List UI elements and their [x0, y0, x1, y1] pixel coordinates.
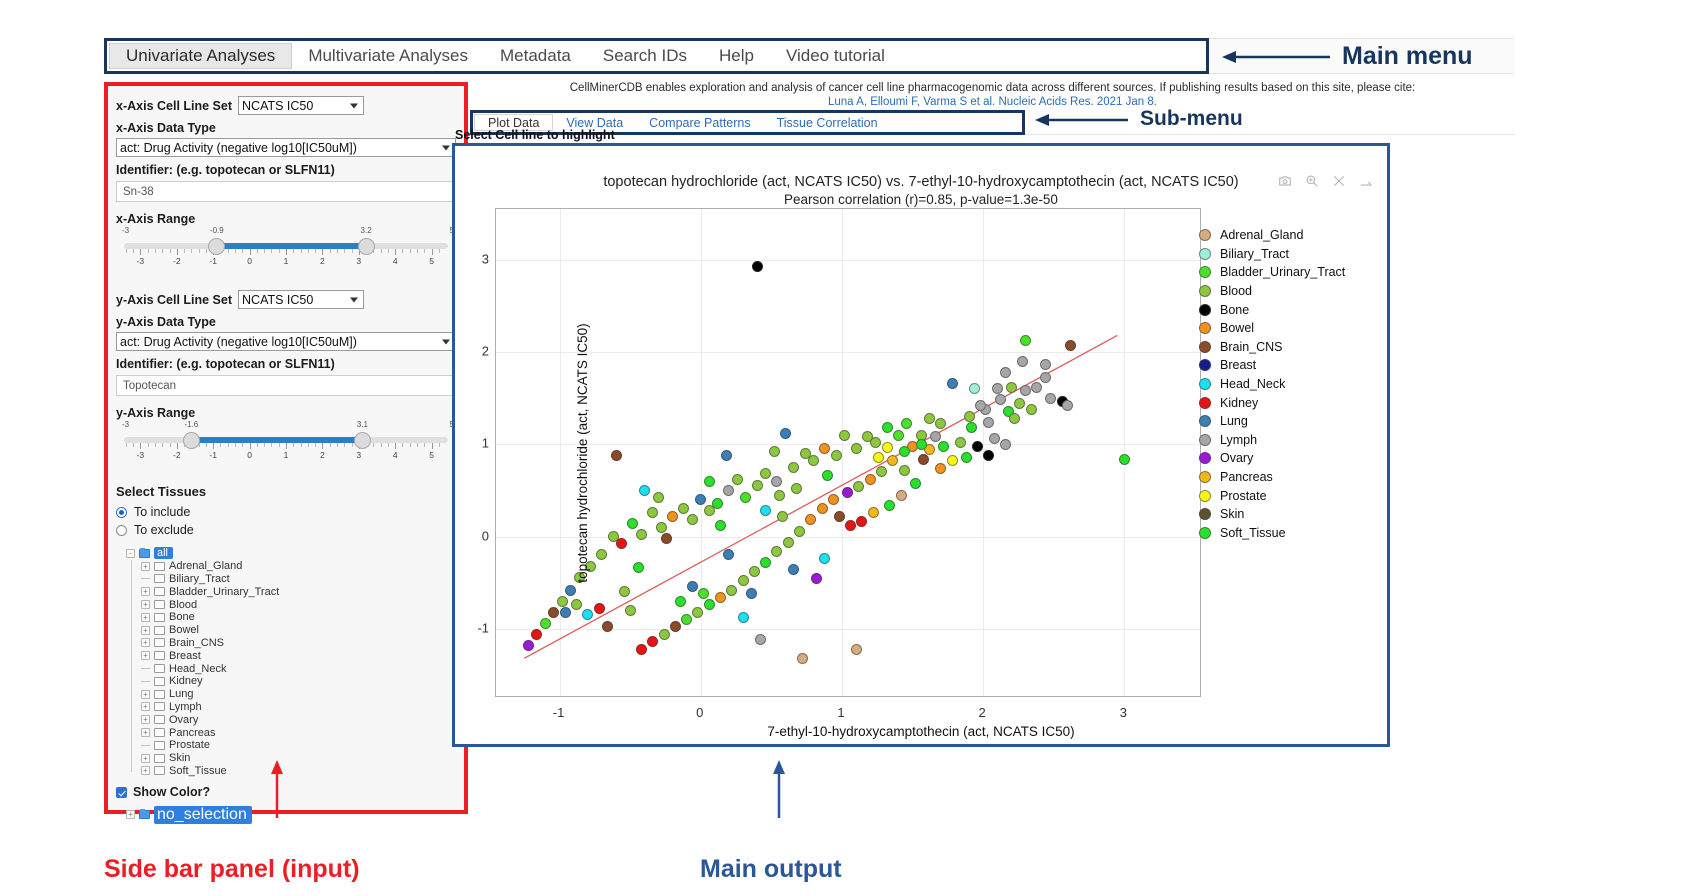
radio-exclude-icon: [116, 525, 127, 536]
show-color-checkbox-row[interactable]: Show Color?: [116, 785, 456, 799]
scatter-point[interactable]: [794, 526, 805, 537]
scatter-point[interactable]: [817, 503, 828, 514]
legend-label: Breast: [1220, 358, 1256, 372]
x-axis-cell-line-set-row: x-Axis Cell Line Set NCATS IC50: [116, 96, 456, 115]
no-selection-node[interactable]: + no_selection: [116, 808, 456, 821]
scatter-point[interactable]: [882, 422, 893, 433]
legend-item-biliary_tract[interactable]: Biliary_Tract: [1199, 245, 1375, 264]
scatter-point[interactable]: [656, 522, 667, 533]
scatter-point[interactable]: [851, 443, 862, 454]
scatter-point[interactable]: [752, 261, 763, 272]
scatter-point[interactable]: [865, 474, 876, 485]
slider-tick-label: 0: [247, 256, 252, 266]
x-axis-data-type-select[interactable]: act: Drug Activity (negative log10[IC50u…: [116, 138, 456, 157]
scatter-point[interactable]: [972, 441, 983, 452]
folder-icon: [154, 754, 165, 763]
plot-area: -10123 -10123: [495, 208, 1201, 697]
tree-node-bowel[interactable]: +Bowel: [116, 624, 456, 637]
tree-node-ovary[interactable]: +Ovary: [116, 713, 456, 726]
slider-knob-high[interactable]: [354, 432, 371, 449]
legend-item-bowel[interactable]: Bowel: [1199, 319, 1375, 338]
tab-help[interactable]: Help: [703, 41, 770, 71]
legend-item-kidney[interactable]: Kidney: [1199, 393, 1375, 412]
folder-icon: [154, 690, 165, 699]
legend-color-swatch: [1199, 341, 1211, 353]
scatter-point[interactable]: [1045, 393, 1056, 404]
scatter-point[interactable]: [797, 653, 808, 664]
scatter-point[interactable]: [851, 644, 862, 655]
collapse-icon[interactable]: -: [126, 549, 135, 558]
tree-node-label: Biliary_Tract: [169, 573, 230, 585]
legend-color-swatch: [1199, 248, 1211, 260]
y-axis-cell-line-set-select[interactable]: NCATS IC50: [238, 290, 364, 309]
legend-label: Lung: [1220, 414, 1248, 428]
legend-item-head_neck[interactable]: Head_Neck: [1199, 375, 1375, 394]
expand-icon[interactable]: +: [141, 587, 150, 596]
scatter-point[interactable]: [845, 520, 856, 531]
x-range-high-value: 3.2: [361, 226, 372, 235]
tab-metadata[interactable]: Metadata: [484, 41, 587, 71]
legend-label: Blood: [1220, 284, 1252, 298]
scatter-point[interactable]: [540, 618, 551, 629]
scatter-point[interactable]: [924, 413, 935, 424]
citation-link[interactable]: Luna A, Elloumi F, Varma S et al. Nuclei…: [470, 96, 1515, 108]
scatter-point[interactable]: [636, 644, 647, 655]
tree-node-bone[interactable]: +Bone: [116, 611, 456, 624]
scatter-point[interactable]: [873, 452, 884, 463]
scatter-point[interactable]: [687, 581, 698, 592]
legend-color-swatch: [1199, 508, 1211, 520]
slider-tick-label: -2: [173, 256, 181, 266]
expand-icon[interactable]: +: [141, 766, 150, 775]
legend-color-swatch: [1199, 415, 1211, 427]
legend-color-swatch: [1199, 266, 1211, 278]
tree-node-label: Breast: [169, 650, 201, 662]
tree-node-lung[interactable]: +Lung: [116, 688, 456, 701]
expand-icon[interactable]: +: [141, 728, 150, 737]
scatter-point[interactable]: [828, 494, 839, 505]
legend-item-soft_tissue[interactable]: Soft_Tissue: [1199, 524, 1375, 543]
scatter-point[interactable]: [738, 575, 749, 586]
slider-tick-labels: -3-2-1012345: [116, 256, 456, 268]
folder-icon: [154, 715, 165, 724]
annotation-arrow-sidebar: [270, 760, 284, 820]
slider-tick-label: -3: [137, 256, 145, 266]
expand-icon[interactable]: +: [141, 754, 150, 763]
legend-label: Brain_CNS: [1220, 340, 1283, 354]
y-range-min-end: -3: [122, 420, 129, 429]
scatter-point[interactable]: [565, 585, 576, 596]
x-tick-label: 0: [696, 705, 703, 720]
legend-item-lymph[interactable]: Lymph: [1199, 431, 1375, 450]
tab-video-tutorial[interactable]: Video tutorial: [770, 41, 901, 71]
x-axis-cell-line-set-value: NCATS IC50: [242, 99, 313, 113]
scatter-point[interactable]: [955, 437, 966, 448]
scatter-point[interactable]: [983, 417, 994, 428]
tree-node-label: Kidney: [169, 675, 203, 687]
tab-label: Metadata: [500, 46, 571, 66]
legend-label: Bladder_Urinary_Tract: [1220, 265, 1345, 279]
scatter-point[interactable]: [704, 505, 715, 516]
subtab-compare-patterns[interactable]: Compare Patterns: [636, 113, 763, 132]
tree-node-label: Prostate: [169, 739, 210, 751]
scatter-point[interactable]: [961, 452, 972, 463]
tree-node-label: Brain_CNS: [169, 637, 224, 649]
tree-node-breast[interactable]: +Breast: [116, 649, 456, 662]
legend-color-swatch: [1199, 434, 1211, 446]
y-axis-range-label: y-Axis Range: [116, 406, 456, 420]
tree-node-bladder_urinary_tract[interactable]: +Bladder_Urinary_Tract: [116, 585, 456, 598]
tree-node-label: Bowel: [169, 624, 199, 636]
legend-item-lung[interactable]: Lung: [1199, 412, 1375, 431]
scatter-point[interactable]: [975, 400, 986, 411]
x-tick-label: -1: [553, 705, 565, 720]
scatter-point[interactable]: [769, 446, 780, 457]
scatter-point[interactable]: [594, 603, 605, 614]
y-axis-cell-line-set-label: y-Axis Cell Line Set: [116, 293, 232, 307]
expand-icon[interactable]: +: [141, 600, 150, 609]
subtab-tissue-correlation[interactable]: Tissue Correlation: [764, 113, 891, 132]
tree-node-kidney[interactable]: Kidney: [116, 675, 456, 688]
folder-icon: [154, 677, 165, 686]
scatter-point[interactable]: [910, 478, 921, 489]
slider-tick-label: -2: [173, 450, 181, 460]
tab-univariate-analyses[interactable]: Univariate Analyses: [109, 43, 292, 69]
scatter-point[interactable]: [1000, 439, 1011, 450]
scatter-point[interactable]: [916, 439, 927, 450]
slider-tick-label: 5: [429, 450, 434, 460]
legend-label: Bone: [1220, 303, 1249, 317]
chevron-down-icon: [442, 339, 450, 344]
y-range-high-value: 3.1: [357, 420, 368, 429]
y-axis-data-type-value: act: Drug Activity (negative log10[IC50u…: [120, 335, 357, 349]
expand-icon[interactable]: +: [141, 626, 150, 635]
x-axis-range-label: x-Axis Range: [116, 212, 456, 226]
folder-icon: [154, 664, 165, 673]
legend-item-bladder_urinary_tract[interactable]: Bladder_Urinary_Tract: [1199, 263, 1375, 282]
plot-subtitle: Pearson correlation (r)=0.85, p-value=1.…: [455, 192, 1387, 207]
scatter-point[interactable]: [608, 531, 619, 542]
slider-ticks: [124, 249, 448, 255]
scatter-point[interactable]: [842, 487, 853, 498]
x-axis-identifier-value: Sn-38: [123, 186, 154, 198]
tab-label: Video tutorial: [786, 46, 885, 66]
tree-node-prostate[interactable]: Prostate: [116, 739, 456, 752]
scatter-point[interactable]: [560, 607, 571, 618]
select-tissues-label: Select Tissues: [116, 484, 456, 499]
tree-node-pancreas[interactable]: +Pancreas: [116, 726, 456, 739]
x-axis-identifier-label: Identifier: (e.g. topotecan or SLFN11): [116, 163, 456, 177]
tissue-mode-include[interactable]: To include: [116, 505, 456, 519]
expand-icon[interactable]: +: [141, 638, 150, 647]
slider-tick-label: 3: [356, 256, 361, 266]
folder-icon: [139, 810, 150, 819]
legend-item-blood[interactable]: Blood: [1199, 282, 1375, 301]
legend-label: Kidney: [1220, 396, 1258, 410]
scatter-point[interactable]: [557, 596, 568, 607]
scatter-point[interactable]: [783, 537, 794, 548]
scatter-point[interactable]: [1017, 356, 1028, 367]
y-tick-label: 2: [482, 344, 489, 359]
chevron-down-icon: [350, 297, 358, 302]
folder-icon: [154, 638, 165, 647]
tree-node-label: all: [154, 547, 173, 559]
expand-icon[interactable]: +: [141, 690, 150, 699]
scatter-point[interactable]: [780, 428, 791, 439]
slider-knob-low[interactable]: [183, 432, 200, 449]
folder-icon: [154, 562, 165, 571]
scatter-point[interactable]: [755, 634, 766, 645]
scatter-point[interactable]: [726, 585, 737, 596]
scatter-point[interactable]: [1026, 404, 1037, 415]
x-axis-data-type-value: act: Drug Activity (negative log10[IC50u…: [120, 141, 357, 155]
slider-ticks: [124, 443, 448, 449]
scatter-point[interactable]: [721, 450, 732, 461]
legend-color-swatch: [1199, 452, 1211, 464]
legend-color-swatch: [1199, 322, 1211, 334]
leaf-connector-icon: [141, 578, 150, 579]
slider-tick-label: 2: [320, 450, 325, 460]
legend-color-swatch: [1199, 490, 1211, 502]
scatter-point[interactable]: [639, 485, 650, 496]
tree-node-label: Bladder_Urinary_Tract: [169, 586, 279, 598]
legend-color-swatch: [1199, 304, 1211, 316]
legend-item-pancreas[interactable]: Pancreas: [1199, 468, 1375, 487]
scatter-point[interactable]: [834, 511, 845, 522]
tree-node-label: Lung: [169, 688, 193, 700]
citation-block: CellMinerCDB enables exploration and ana…: [470, 82, 1515, 108]
scatter-point[interactable]: [899, 465, 910, 476]
main-output-panel: topotecan hydrochloride (act, NCATS IC50…: [452, 143, 1390, 747]
plot-title: topotecan hydrochloride (act, NCATS IC50…: [455, 174, 1387, 190]
x-axis-cell-line-set-label: x-Axis Cell Line Set: [116, 99, 232, 113]
y-axis-identifier-value: Topotecan: [123, 380, 176, 392]
scatter-point[interactable]: [760, 557, 771, 568]
slider-tick-label: -1: [209, 450, 217, 460]
slider-tick-label: 4: [393, 256, 398, 266]
plot-title-block: topotecan hydrochloride (act, NCATS IC50…: [455, 174, 1387, 207]
annotation-sub-menu: Sub-menu: [1140, 107, 1243, 131]
scatter-point[interactable]: [930, 431, 941, 442]
y-axis-range-slider[interactable]: -3 5 -1.6 3.1 -3-2-1012345: [116, 420, 456, 466]
citation-line-1: CellMinerCDB enables exploration and ana…: [470, 82, 1515, 94]
x-tick-label: 2: [979, 705, 986, 720]
folder-icon: [154, 626, 165, 635]
scatter-point[interactable]: [625, 605, 636, 616]
folder-icon: [154, 741, 165, 750]
annotation-arrow-main-menu: [1222, 50, 1332, 64]
scatter-point[interactable]: [777, 511, 788, 522]
tab-label: Search IDs: [603, 46, 687, 66]
legend-label: Bowel: [1220, 321, 1254, 335]
annotation-arrow-sub-menu: [1035, 113, 1130, 127]
legend-item-ovary[interactable]: Ovary: [1199, 449, 1375, 468]
expand-icon[interactable]: +: [126, 810, 135, 819]
tree-node-label: Lymph: [169, 701, 202, 713]
tab-label: Univariate Analyses: [126, 46, 275, 66]
annotation-arrow-main-output: [772, 760, 786, 820]
scatter-point[interactable]: [947, 378, 958, 389]
sidebar-panel: x-Axis Cell Line Set NCATS IC50 x-Axis D…: [104, 82, 468, 814]
tree-node-label: Soft_Tissue: [169, 765, 227, 777]
scatter-point[interactable]: [704, 476, 715, 487]
checkbox-checked-icon[interactable]: [116, 787, 127, 798]
x-axis-cell-line-set-select[interactable]: NCATS IC50: [238, 96, 364, 115]
scatter-point[interactable]: [839, 430, 850, 441]
chevron-down-icon: [442, 145, 450, 150]
legend-color-swatch: [1199, 471, 1211, 483]
legend-item-breast[interactable]: Breast: [1199, 356, 1375, 375]
scatter-point[interactable]: [800, 448, 811, 459]
scatter-point[interactable]: [893, 430, 904, 441]
legend-item-prostate[interactable]: Prostate: [1199, 486, 1375, 505]
legend-label: Soft_Tissue: [1220, 526, 1286, 540]
tree-node-head_neck[interactable]: Head_Neck: [116, 662, 456, 675]
y-tick-label: 1: [482, 436, 489, 451]
y-axis-cell-line-set-value: NCATS IC50: [242, 293, 313, 307]
scatter-point[interactable]: [935, 463, 946, 474]
scatter-point[interactable]: [899, 446, 910, 457]
scatter-point[interactable]: [1000, 367, 1011, 378]
scatter-point[interactable]: [752, 480, 763, 491]
scatter-point[interactable]: [523, 640, 534, 651]
tree-node-skin[interactable]: +Skin: [116, 752, 456, 765]
tree-node-label: Skin: [169, 752, 190, 764]
legend-label: Adrenal_Gland: [1220, 228, 1303, 242]
folder-icon: [154, 600, 165, 609]
tab-label: Multivariate Analyses: [308, 46, 468, 66]
tree-node-lymph[interactable]: +Lymph: [116, 701, 456, 714]
legend-item-bone[interactable]: Bone: [1199, 300, 1375, 319]
scatter-point[interactable]: [582, 609, 593, 620]
subtab-label: Tissue Correlation: [777, 116, 878, 130]
expand-icon[interactable]: +: [141, 651, 150, 660]
expand-icon[interactable]: +: [141, 613, 150, 622]
no-selection-label: no_selection: [154, 806, 252, 824]
plot-axes[interactable]: [495, 208, 1201, 697]
scatter-point[interactable]: [868, 507, 879, 518]
slider-tick-label: -1: [209, 256, 217, 266]
y-axis-label: topotecan hydrochloride (act, NCATS IC50…: [575, 323, 590, 582]
scatter-point[interactable]: [611, 450, 622, 461]
y-axis-identifier-label: Identifier: (e.g. topotecan or SLFN11): [116, 357, 456, 371]
show-color-label: Show Color?: [133, 785, 210, 799]
scatter-point[interactable]: [1119, 454, 1130, 465]
folder-icon: [139, 549, 150, 558]
annotation-main-output: Main output: [700, 855, 842, 884]
scatter-point[interactable]: [659, 629, 670, 640]
tree-node-blood[interactable]: +Blood: [116, 598, 456, 611]
scatter-point[interactable]: [831, 450, 842, 461]
slider-tick-label: 1: [284, 256, 289, 266]
scatter-point[interactable]: [667, 511, 678, 522]
scatter-point[interactable]: [738, 612, 749, 623]
scatter-point[interactable]: [749, 566, 760, 577]
slider-tick-label: 1: [284, 450, 289, 460]
slider-tick-label: 0: [247, 450, 252, 460]
legend-color-swatch: [1199, 397, 1211, 409]
tree-node-soft_tissue[interactable]: +Soft_Tissue: [116, 765, 456, 778]
legend-color-swatch: [1199, 229, 1211, 241]
legend-label: Ovary: [1220, 451, 1253, 465]
tree-node-adrenal_gland[interactable]: +Adrenal_Gland: [116, 560, 456, 573]
legend-label: Prostate: [1220, 489, 1267, 503]
legend-color-swatch: [1199, 359, 1211, 371]
main-menu: Univariate Analyses Multivariate Analyse…: [104, 38, 1209, 74]
tree-node-label: Blood: [169, 599, 197, 611]
plot-legend: Adrenal_GlandBiliary_TractBladder_Urinar…: [1199, 226, 1375, 542]
tree-node-label: Pancreas: [169, 727, 215, 739]
y-axis-cell-line-set-row: y-Axis Cell Line Set NCATS IC50: [116, 290, 456, 309]
x-axis-data-type-label: x-Axis Data Type: [116, 121, 456, 135]
tab-label: Help: [719, 46, 754, 66]
scatter-point[interactable]: [964, 411, 975, 422]
folder-icon: [154, 702, 165, 711]
x-tick-label: 1: [837, 705, 844, 720]
slider-tick-labels: -3-2-1012345: [116, 450, 456, 462]
scatter-point[interactable]: [918, 454, 929, 465]
chevron-down-icon: [350, 103, 358, 108]
legend-color-swatch: [1199, 378, 1211, 390]
scatter-point[interactable]: [1006, 382, 1017, 393]
x-axis-range-slider[interactable]: -3 5 -0.9 3.2 -3-2-1012345: [116, 226, 456, 272]
scatter-point[interactable]: [1009, 413, 1020, 424]
legend-color-swatch: [1199, 285, 1211, 297]
radio-include-icon: [116, 507, 127, 518]
expand-icon[interactable]: +: [141, 562, 150, 571]
expand-icon[interactable]: +: [141, 702, 150, 711]
scatter-point[interactable]: [704, 599, 715, 610]
tree-node-brain_cns[interactable]: +Brain_CNS: [116, 637, 456, 650]
annotation-main-menu: Main menu: [1342, 42, 1473, 71]
scatter-point[interactable]: [715, 592, 726, 603]
slider-tick-label: -3: [137, 450, 145, 460]
scatter-point[interactable]: [947, 455, 958, 466]
tree-node-label: Bone: [169, 611, 195, 623]
x-axis-identifier-input[interactable]: Sn-38: [116, 181, 456, 202]
slider-knob-high[interactable]: [358, 238, 375, 255]
legend-label: Skin: [1220, 507, 1244, 521]
folder-icon: [154, 651, 165, 660]
legend-label: Pancreas: [1220, 470, 1273, 484]
scatter-point[interactable]: [715, 520, 726, 531]
slider-tick-label: 5: [429, 256, 434, 266]
y-axis-data-type-select[interactable]: act: Drug Activity (negative log10[IC50u…: [116, 332, 456, 351]
leaf-connector-icon: [141, 745, 150, 746]
tab-search-ids[interactable]: Search IDs: [587, 41, 703, 71]
scatter-point[interactable]: [732, 474, 743, 485]
tree-node-biliary_tract[interactable]: Biliary_Tract: [116, 573, 456, 586]
tree-node-label: Adrenal_Gland: [169, 560, 242, 572]
tab-multivariate-analyses[interactable]: Multivariate Analyses: [292, 41, 484, 71]
expand-icon[interactable]: +: [141, 715, 150, 724]
folder-icon: [154, 574, 165, 583]
x-axis-label: 7-ethyl-10-hydroxycamptothecin (act, NCA…: [455, 724, 1387, 739]
legend-color-swatch: [1199, 527, 1211, 539]
legend-item-brain_cns[interactable]: Brain_CNS: [1199, 338, 1375, 357]
y-axis-identifier-input[interactable]: Topotecan: [116, 375, 456, 396]
x-range-low-value: -0.9: [210, 226, 224, 235]
radio-include-label: To include: [134, 505, 190, 519]
tissue-mode-exclude[interactable]: To exclude: [116, 523, 456, 537]
select-cell-line-label: Select Cell line to highlight: [455, 128, 615, 142]
scatter-point[interactable]: [938, 441, 949, 452]
legend-item-skin[interactable]: Skin: [1199, 505, 1375, 524]
annotation-sidebar: Side bar panel (input): [104, 855, 360, 884]
scatter-point[interactable]: [1031, 382, 1042, 393]
tree-node-all[interactable]: -all: [116, 547, 456, 560]
legend-item-adrenal_gland[interactable]: Adrenal_Gland: [1199, 226, 1375, 245]
